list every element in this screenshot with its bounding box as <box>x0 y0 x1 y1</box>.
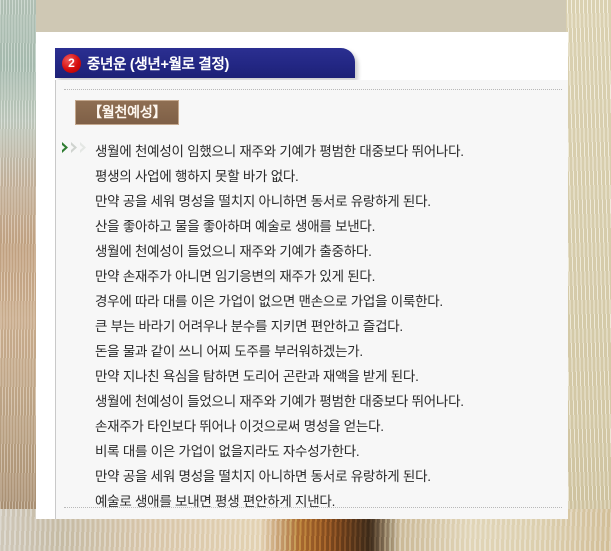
section-number-badge: 2 <box>62 54 81 73</box>
list-item: 예술로 생애를 보내면 평생 편안하게 지낸다. <box>95 489 568 514</box>
list-item: 생월에 천예성이 들었으니 재주와 기예가 출중하다. <box>95 239 568 264</box>
subsection-header: 【월천예성】 <box>75 100 179 125</box>
list-item: 만약 손재주가 아니면 임기응변의 재주가 있게 된다. <box>95 264 568 289</box>
divider-bottom <box>64 507 562 508</box>
list-item: 큰 부는 바라기 어려우나 분수를 지키면 편안하고 즐겁다. <box>95 314 568 339</box>
list-item: 만약 공을 세워 명성을 떨치지 아니하면 동서로 유랑하게 된다. <box>95 464 568 489</box>
content-pane: 【월천예성】 생월에 천예성이 임했으니 재주와 기예가 평범한 대중보다 뛰어… <box>55 80 568 519</box>
background-right-plank <box>566 0 611 551</box>
section-title-bar: 2 중년운 (생년+월로 결정) <box>55 48 355 78</box>
list-item: 만약 지나친 욕심을 탐하면 도리어 곤란과 재액을 받게 된다. <box>95 364 568 389</box>
fortune-line-list: 생월에 천예성이 임했으니 재주와 기예가 평범한 대중보다 뛰어나다. 평생의… <box>95 139 568 514</box>
list-item: 생월에 천예성이 임했으니 재주와 기예가 평범한 대중보다 뛰어나다. <box>95 139 568 164</box>
divider-top <box>64 89 562 90</box>
list-item: 돈을 물과 같이 쓰니 어찌 도주를 부러워하겠는가. <box>95 339 568 364</box>
list-item: 손재주가 타인보다 뛰어나 이것으로써 명성을 얻는다. <box>95 414 568 439</box>
list-item: 만약 공을 세워 명성을 떨치지 아니하면 동서로 유랑하게 된다. <box>95 189 568 214</box>
list-item: 비록 대를 이은 가업이 없을지라도 자수성가한다. <box>95 439 568 464</box>
page-root: 2 중년운 (생년+월로 결정) 【월천예성】 <box>0 0 611 551</box>
fortune-text-block: 생월에 천예성이 임했으니 재주와 기예가 평범한 대중보다 뛰어나다. 평생의… <box>56 139 568 514</box>
list-item: 생월에 천예성이 들었으니 재주와 기예가 평범한 대중보다 뛰어나다. <box>95 389 568 414</box>
list-item: 평생의 사업에 행하지 못할 바가 없다. <box>95 164 568 189</box>
list-item: 산을 좋아하고 물을 좋아하며 예술로 생애를 보낸다. <box>95 214 568 239</box>
list-item: 경우에 따라 대를 이은 가업이 없으면 맨손으로 가업을 이룩한다. <box>95 289 568 314</box>
section-title-text: 중년운 (생년+월로 결정) <box>87 53 229 74</box>
double-chevron-right-icon <box>61 142 88 153</box>
content-card: 2 중년운 (생년+월로 결정) 【월천예성】 <box>36 32 568 519</box>
background-left-column <box>0 0 36 551</box>
